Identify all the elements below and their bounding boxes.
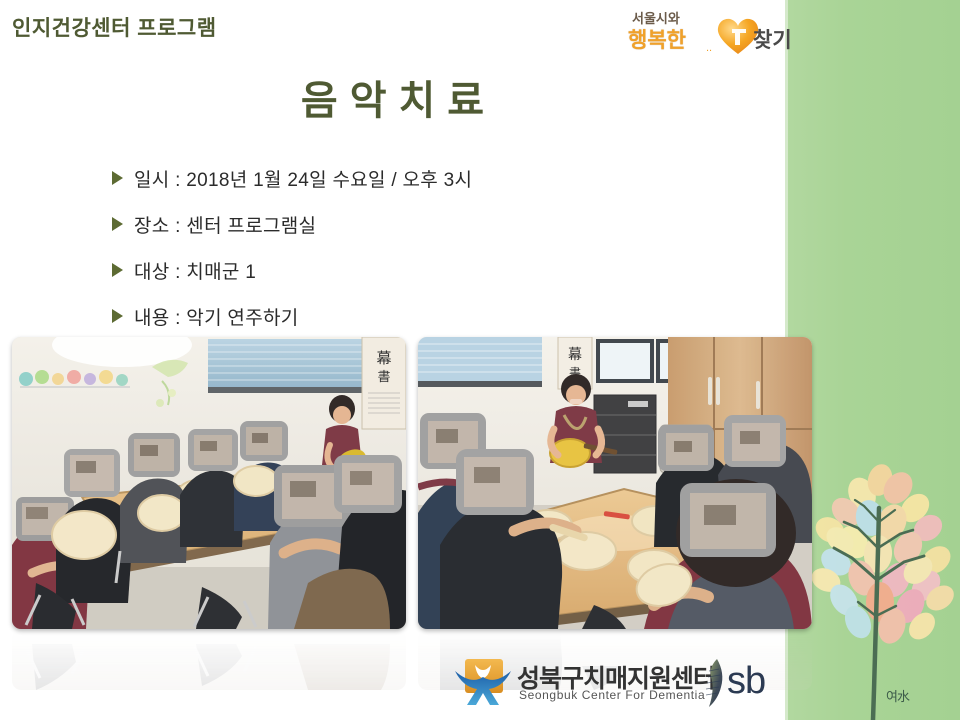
triangle-bullet-icon <box>112 263 123 277</box>
footer-logo: 성북구치매지원센터 Seongbuk Center For Dementia s… <box>455 655 775 713</box>
seoul-logo-dots: .. <box>706 42 712 54</box>
program-photo-right: 幕 書 <box>418 337 812 629</box>
photo-left-reflection <box>12 630 406 690</box>
sb-text: sb <box>727 659 765 703</box>
person-mark-icon <box>455 659 511 705</box>
tree-icon <box>800 430 960 720</box>
list-item: 내용 : 악기 연주하기 <box>112 293 732 339</box>
list-item: 장소 : 센터 프로그램실 <box>112 201 732 247</box>
slide-canvas: 여水 인지건강센터 프로그램 서울시와 행복한 .. 찾기 음악치료 <box>0 0 960 720</box>
list-item-label: 일시 : 2018년 1월 24일 수요일 / 오후 3시 <box>134 165 472 192</box>
tree-signature-mark: 여水 <box>886 686 909 705</box>
seoul-city-logo: 서울시와 행복한 .. 찾기 <box>628 8 783 60</box>
triangle-bullet-icon <box>112 217 123 231</box>
triangle-bullet-icon <box>112 171 123 185</box>
list-item-label: 장소 : 센터 프로그램실 <box>134 211 316 238</box>
triangle-bullet-icon <box>112 309 123 323</box>
list-item-label: 내용 : 악기 연주하기 <box>134 303 299 330</box>
program-photo-left: 幕 書 <box>12 337 406 629</box>
page-title: 인지건강센터 프로그램 <box>12 12 217 42</box>
program-title: 음악치료 <box>0 68 785 126</box>
list-item: 일시 : 2018년 1월 24일 수요일 / 오후 3시 <box>112 155 732 201</box>
list-item-label: 대상 : 치매군 1 <box>134 257 256 284</box>
program-info-list: 일시 : 2018년 1월 24일 수요일 / 오후 3시 장소 : 센터 프로… <box>112 155 732 339</box>
footer-logo-english: Seongbuk Center For Dementia <box>519 688 705 702</box>
list-item: 대상 : 치매군 1 <box>112 247 732 293</box>
seoul-logo-line2: 행복한 <box>628 24 686 54</box>
seoul-logo-line3: 찾기 <box>753 24 792 54</box>
sb-brand-mark: sb <box>695 657 779 709</box>
